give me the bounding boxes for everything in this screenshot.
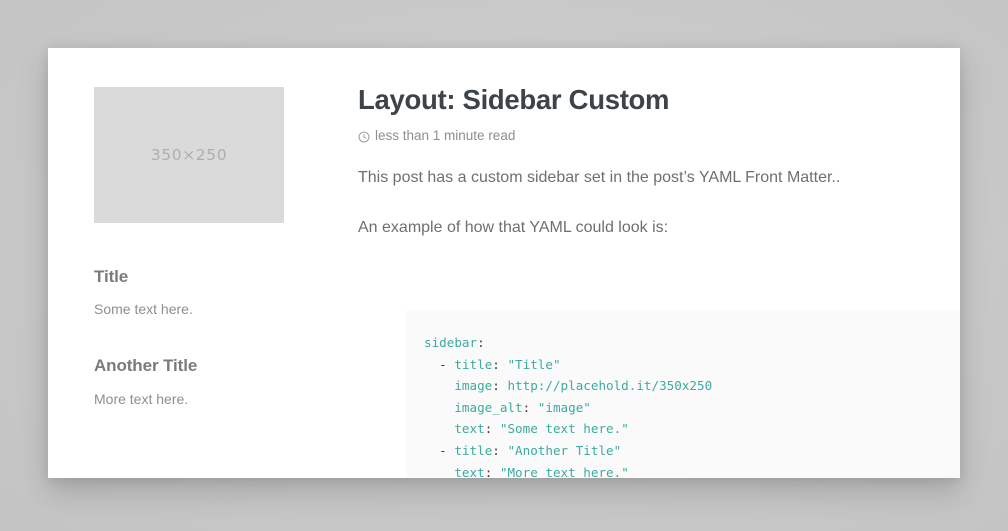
content-card-inner: 350×250 Title Some text here. Another Ti… [48, 48, 960, 478]
post-main-column: Layout: Sidebar Custom less than 1 minut… [358, 84, 960, 478]
body-paragraph: An example of how that YAML could look i… [358, 216, 960, 239]
sidebar-block-1: Title Some text here. [94, 267, 286, 317]
page-title: Layout: Sidebar Custom [358, 84, 960, 116]
code-block: sidebar: - title: "Title" image: http://… [406, 310, 960, 478]
sidebar-thumbnail-label: 350×250 [151, 146, 227, 164]
sidebar-block-2: Another Title More text here. [94, 356, 286, 407]
post-meta: less than 1 minute read [358, 128, 960, 143]
sidebar-block-title: Title [94, 267, 286, 287]
sidebar-thumbnail-image: 350×250 [94, 87, 284, 223]
sidebar-block-text: Some text here. [94, 301, 286, 317]
code-content: sidebar: - title: "Title" image: http://… [424, 332, 960, 478]
post-sidebar: 350×250 Title Some text here. Another Ti… [94, 87, 286, 407]
sidebar-block-text: More text here. [94, 391, 286, 407]
sidebar-block-title: Another Title [94, 356, 286, 376]
clock-icon [358, 130, 370, 142]
body-paragraph: This post has a custom sidebar set in th… [358, 166, 960, 189]
content-card: 350×250 Title Some text here. Another Ti… [48, 48, 960, 478]
read-time-label: less than 1 minute read [375, 128, 515, 143]
